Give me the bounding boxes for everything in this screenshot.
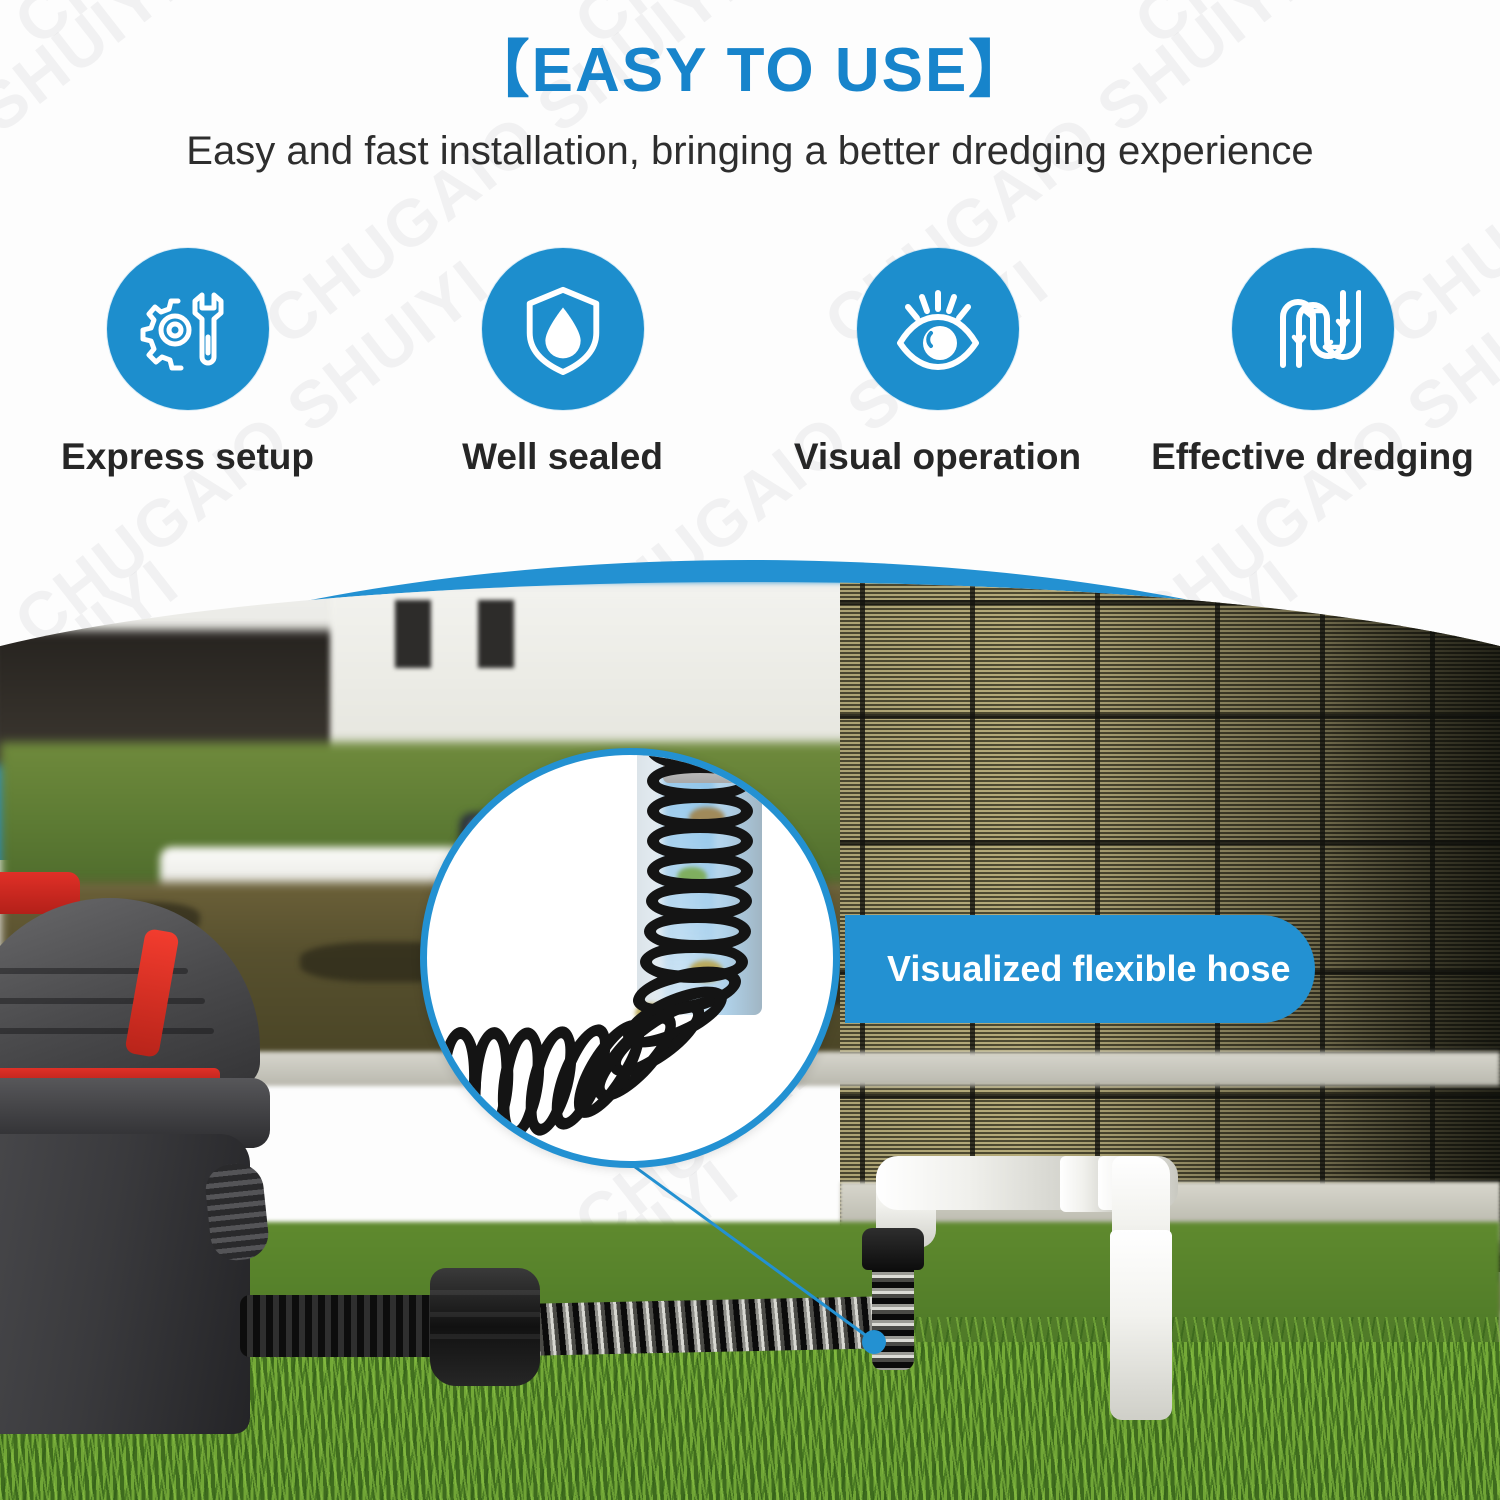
- eye-icon: [890, 281, 986, 377]
- feature-badge: [857, 248, 1019, 410]
- feature-label: Well sealed: [462, 436, 663, 478]
- feature-label: Express setup: [61, 436, 314, 478]
- pvc-down-pipe: [1110, 1230, 1172, 1420]
- shield-water-drop-icon: [516, 282, 610, 376]
- vacuum-exhaust-vent: [203, 1161, 271, 1263]
- house-window: [395, 600, 431, 668]
- feature-badge: [482, 248, 644, 410]
- hose-pipe-adapter: [862, 1228, 924, 1270]
- feature-badge: [107, 248, 269, 410]
- s-curve-pipe-flow-icon: [1265, 281, 1361, 377]
- coiled-clear-hose-segment: [527, 1296, 888, 1356]
- vacuum-lid-rib: [0, 1028, 214, 1034]
- page-title: 【EASY TO USE】: [0, 38, 1500, 103]
- house-window: [478, 600, 514, 668]
- callout-label: Visualized flexible hose: [887, 948, 1291, 990]
- feature-item-well-sealed: Well sealed: [375, 248, 750, 518]
- condenser-shadow: [1320, 582, 1500, 1272]
- hose-closeup-magnifier: [420, 748, 840, 1168]
- feature-item-effective-dredging: Effective dredging: [1125, 248, 1500, 518]
- feature-row: Express setup Well sealed: [0, 248, 1500, 518]
- hose-coupler-nut: [430, 1268, 540, 1386]
- vacuum-lid: [0, 898, 260, 1088]
- feature-badge: [1232, 248, 1394, 410]
- product-feature-poster: Visualized flexible hose 【EASY TO USE】 E…: [0, 0, 1500, 1500]
- feature-item-express-setup: Express setup: [0, 248, 375, 518]
- gear-wrench-icon: [140, 281, 236, 377]
- concrete-edging: [230, 1052, 1500, 1086]
- feature-item-visual-operation: Visual operation: [750, 248, 1125, 518]
- feature-label: Visual operation: [794, 436, 1081, 478]
- page-subtitle: Easy and fast installation, bringing a b…: [0, 129, 1500, 174]
- header: 【EASY TO USE】 Easy and fast installation…: [0, 0, 1500, 230]
- vacuum-lid-rib: [0, 998, 205, 1004]
- callout-visualized-hose: Visualized flexible hose: [845, 915, 1315, 1023]
- feature-label: Effective dredging: [1151, 436, 1474, 478]
